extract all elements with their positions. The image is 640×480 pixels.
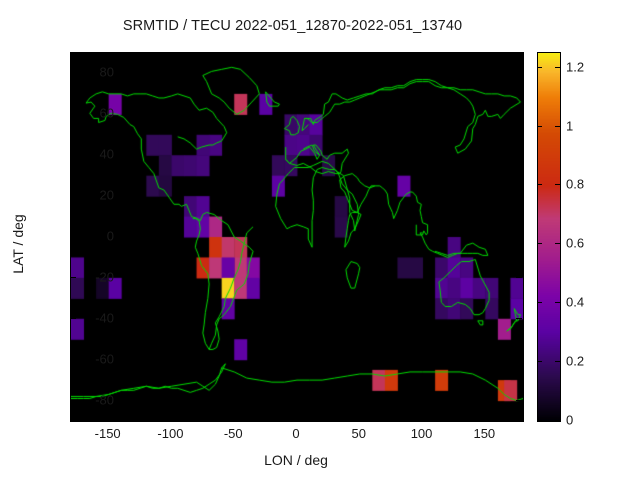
x-tick-label: -150 [73,426,143,441]
colorbar-tick-mark [537,67,542,68]
colorbar-tick-mark [537,420,542,421]
y-tick-mark [70,359,76,360]
x-tick-label: 100 [387,426,457,441]
colorbar-gradient [538,53,560,421]
y-tick-mark [516,113,522,114]
colorbar-tick-label: 0.4 [566,295,584,310]
y-tick-mark [70,154,76,155]
colorbar-tick-mark [555,184,560,185]
y-tick-label: 60 [54,106,114,121]
plot-area [70,52,524,422]
x-tick-mark [484,52,485,58]
x-tick-mark [170,52,171,58]
y-tick-mark [516,236,522,237]
colorbar-tick-mark [537,126,542,127]
y-tick-mark [516,277,522,278]
x-tick-mark [484,414,485,420]
x-tick-label: 150 [449,426,519,441]
x-tick-mark [422,52,423,58]
y-tick-mark [516,154,522,155]
y-axis-label: LAT / deg [10,174,26,314]
colorbar-tick-mark [555,243,560,244]
y-tick-label: 80 [54,65,114,80]
y-tick-mark [70,236,76,237]
world-heatmap-canvas [71,53,523,421]
colorbar-tick-mark [555,67,560,68]
y-tick-mark [516,400,522,401]
colorbar-tick-label: 1.2 [566,59,584,74]
x-tick-mark [108,52,109,58]
colorbar-tick-label: 0 [566,413,573,428]
colorbar-tick-mark [537,302,542,303]
x-tick-mark [233,414,234,420]
x-tick-mark [170,414,171,420]
y-tick-mark [516,72,522,73]
x-tick-label: -100 [135,426,205,441]
y-tick-label: -40 [54,310,114,325]
y-tick-label: 0 [54,229,114,244]
y-tick-label: 20 [54,188,114,203]
x-axis-label: LON / deg [70,452,522,468]
colorbar-tick-label: 1 [566,118,573,133]
y-tick-mark [516,318,522,319]
colorbar-tick-label: 0.8 [566,177,584,192]
y-tick-label: -80 [54,392,114,407]
colorbar-tick-mark [537,184,542,185]
colorbar-tick-mark [555,420,560,421]
y-tick-mark [70,318,76,319]
y-tick-mark [70,277,76,278]
chart-root: SRMTID / TECU 2022-051_12870-2022-051_13… [0,0,640,480]
y-tick-mark [516,195,522,196]
colorbar-tick-mark [537,243,542,244]
y-tick-mark [70,400,76,401]
y-tick-label: 40 [54,147,114,162]
x-tick-mark [233,52,234,58]
colorbar-tick-mark [537,361,542,362]
x-tick-mark [359,414,360,420]
colorbar-tick-mark [555,126,560,127]
x-tick-mark [422,414,423,420]
chart-title: SRMTID / TECU 2022-051_12870-2022-051_13… [0,18,585,34]
colorbar-tick-mark [555,302,560,303]
y-tick-mark [70,195,76,196]
x-tick-label: -50 [198,426,268,441]
y-tick-label: -20 [54,269,114,284]
y-tick-label: -60 [54,351,114,366]
y-tick-mark [516,359,522,360]
x-tick-label: 0 [261,426,331,441]
x-tick-mark [296,52,297,58]
colorbar-tick-label: 0.2 [566,354,584,369]
x-tick-mark [296,414,297,420]
y-tick-mark [70,72,76,73]
x-tick-mark [359,52,360,58]
x-tick-label: 50 [324,426,394,441]
colorbar-tick-label: 0.6 [566,236,584,251]
x-tick-mark [108,414,109,420]
y-tick-mark [70,113,76,114]
colorbar-tick-mark [555,361,560,362]
colorbar [537,52,561,422]
